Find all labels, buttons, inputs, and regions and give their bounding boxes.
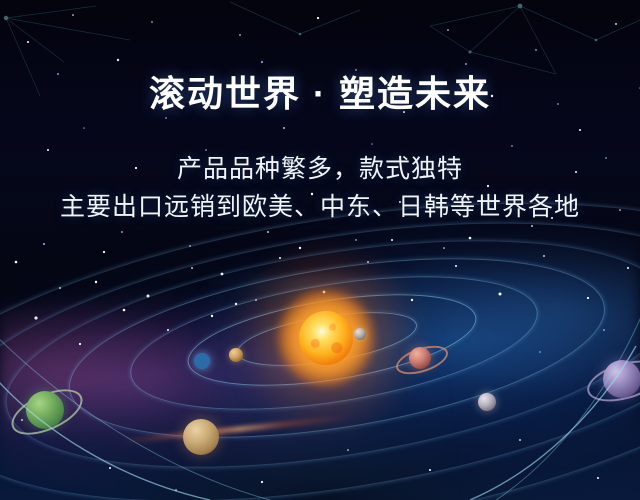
- page-title: 滚动世界 · 塑造未来: [0, 70, 640, 118]
- subtitle-line-2: 主要出口远销到欧美、中东、日韩等世界各地: [0, 188, 640, 226]
- space-banner: 滚动世界 · 塑造未来 产品品种繁多，款式独特 主要出口远销到欧美、中东、日韩等…: [0, 0, 640, 500]
- subtitle-line-1: 产品品种繁多，款式独特: [0, 150, 640, 188]
- banner-text-block: 滚动世界 · 塑造未来 产品品种繁多，款式独特 主要出口远销到欧美、中东、日韩等…: [0, 70, 640, 226]
